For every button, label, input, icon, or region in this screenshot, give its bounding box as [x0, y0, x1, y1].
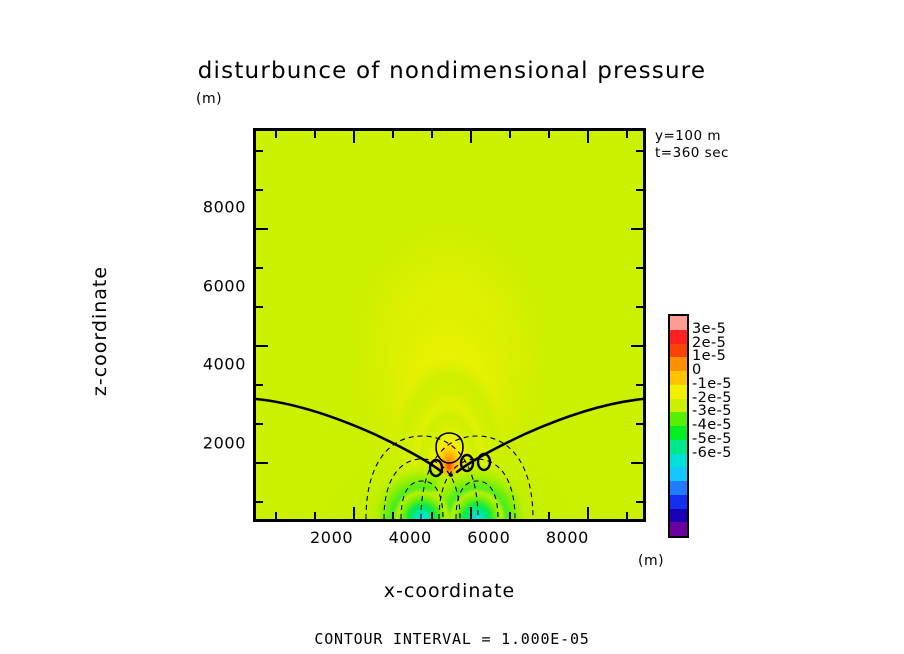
y-tick-minor	[256, 189, 263, 191]
y-tick-minor	[256, 384, 263, 386]
y-tick-right-minor	[636, 384, 643, 386]
x-tick-minor	[626, 512, 628, 519]
y-tick-right-minor	[636, 189, 643, 191]
y-tick-right-minor	[636, 423, 643, 425]
x-tick-label: 6000	[467, 528, 510, 547]
x-tick-top-minor	[548, 131, 550, 138]
colorbar-label: -6e-5	[692, 445, 732, 461]
x-tick-major	[587, 507, 589, 519]
colorbar-swatch	[670, 509, 687, 523]
y-tick-major	[256, 345, 268, 347]
y-tick-minor	[256, 501, 263, 503]
x-tick-top-minor	[509, 131, 511, 138]
y-tick-right-minor	[636, 501, 643, 503]
colorbar-swatch	[670, 330, 687, 344]
x-tick-label: 4000	[389, 528, 432, 547]
x-tick-minor	[275, 512, 277, 519]
y-tick-right-minor	[636, 306, 643, 308]
colorbar-swatch	[670, 344, 687, 358]
contour-plot-panel	[253, 128, 646, 522]
y-tick-minor	[256, 423, 263, 425]
title-units-label: (m)	[196, 91, 222, 107]
x-tick-top-minor	[626, 131, 628, 138]
y-tick-right-minor	[636, 150, 643, 152]
plot-annotations: y=100 m t=360 sec	[655, 128, 729, 162]
colorbar-swatch	[670, 522, 687, 536]
y-tick-right-major	[631, 228, 643, 230]
y-tick-right-minor	[636, 267, 643, 269]
x-tick-top-minor	[431, 131, 433, 138]
y-tick-label: 8000	[186, 197, 246, 216]
contour-interval-note: CONTOUR INTERVAL = 1.000E-05	[0, 630, 904, 648]
y-tick-minor	[256, 267, 263, 269]
x-tick-top-minor	[314, 131, 316, 138]
x-tick-top-major	[587, 131, 589, 143]
colorbar-swatch	[670, 495, 687, 509]
y-tick-minor	[256, 150, 263, 152]
annotation-y: y=100 m	[655, 128, 729, 145]
colorbar-swatch	[670, 385, 687, 399]
y-tick-right-major	[631, 462, 643, 464]
y-tick-label: 4000	[186, 355, 246, 374]
x-tick-top-minor	[392, 131, 394, 138]
x-tick-minor	[431, 512, 433, 519]
x-axis-units-label: (m)	[638, 553, 664, 569]
page-title: disturbunce of nondimensional pressure	[0, 58, 904, 84]
x-tick-minor	[314, 512, 316, 519]
colorbar-swatch	[670, 399, 687, 413]
x-tick-label: 2000	[310, 528, 353, 547]
colorbar-swatch	[670, 357, 687, 371]
annotation-t: t=360 sec	[655, 145, 729, 162]
x-tick-top-minor	[275, 131, 277, 138]
colorbar-swatch	[670, 412, 687, 426]
x-axis-label: x-coordinate	[253, 580, 646, 602]
colorbar-swatch	[670, 426, 687, 440]
y-tick-major	[256, 228, 268, 230]
colorbar-swatch	[670, 467, 687, 481]
y-axis-label: z-coordinate	[89, 211, 111, 451]
colorbar-swatch	[670, 371, 687, 385]
y-tick-label: 6000	[186, 276, 246, 295]
x-tick-label: 8000	[546, 528, 589, 547]
pressure-field-image	[256, 131, 643, 519]
y-tick-right-major	[631, 345, 643, 347]
x-tick-major	[353, 507, 355, 519]
x-tick-top-major	[353, 131, 355, 143]
colorbar-swatch	[670, 440, 687, 454]
x-tick-minor	[509, 512, 511, 519]
x-tick-minor	[548, 512, 550, 519]
y-tick-minor	[256, 306, 263, 308]
colorbar-swatch	[670, 454, 687, 468]
colorbar-swatch	[670, 481, 687, 495]
colorbar	[668, 314, 689, 538]
x-tick-top-major	[470, 131, 472, 143]
y-tick-label: 2000	[186, 434, 246, 453]
x-tick-minor	[392, 512, 394, 519]
y-tick-major	[256, 462, 268, 464]
x-tick-major	[470, 507, 472, 519]
colorbar-swatch	[670, 316, 687, 330]
